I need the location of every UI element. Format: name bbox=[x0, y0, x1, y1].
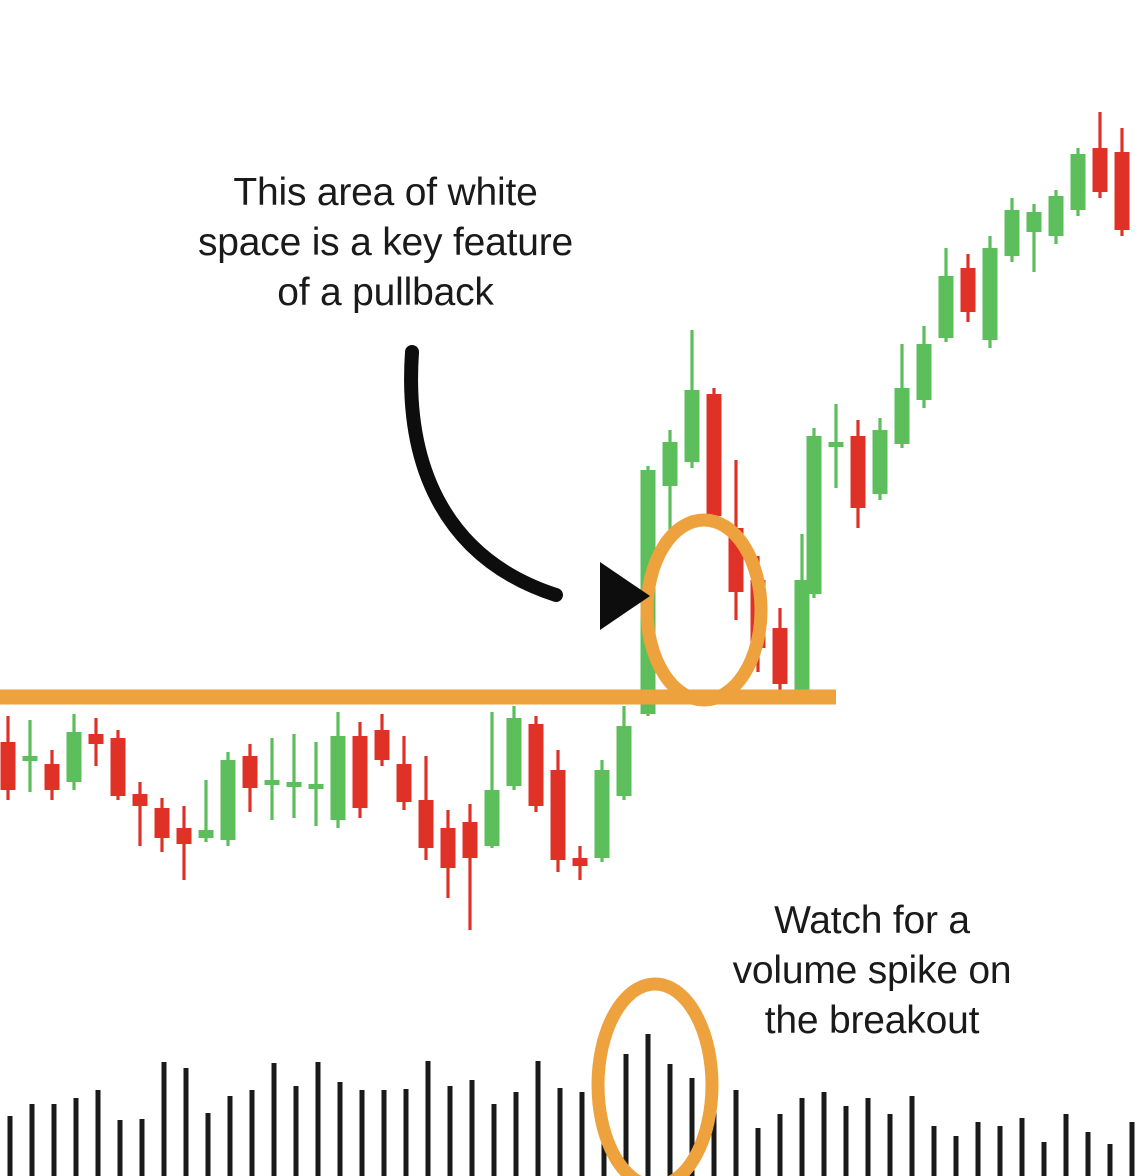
candle-body bbox=[961, 268, 976, 312]
volume-bar bbox=[844, 1106, 849, 1176]
candle-body bbox=[463, 822, 478, 858]
candle-body bbox=[1071, 154, 1086, 210]
candle-body bbox=[287, 782, 302, 787]
candle-body bbox=[551, 770, 566, 860]
candle-body bbox=[773, 628, 788, 684]
volume-bar bbox=[932, 1126, 937, 1176]
candle-body bbox=[707, 394, 722, 516]
volume-bar bbox=[976, 1122, 981, 1176]
candle-body bbox=[795, 580, 810, 692]
candle bbox=[617, 706, 632, 800]
candle-body bbox=[89, 734, 104, 744]
pullback-highlight-ellipse bbox=[647, 520, 761, 700]
candle bbox=[287, 734, 302, 818]
candle-body bbox=[397, 764, 412, 802]
candle bbox=[595, 760, 610, 862]
candle-body bbox=[1027, 212, 1042, 232]
candle-body bbox=[873, 430, 888, 494]
volume-bar bbox=[52, 1104, 57, 1176]
candle bbox=[807, 428, 822, 598]
volume-bar bbox=[228, 1096, 233, 1176]
volume-annotation-text: Watch for a volume spike on the breakout bbox=[672, 896, 1072, 1046]
candle-body bbox=[663, 442, 678, 486]
volume-bar bbox=[118, 1120, 123, 1176]
candle bbox=[1093, 112, 1108, 198]
candle bbox=[1, 716, 16, 800]
volume-bar bbox=[536, 1061, 541, 1176]
candle-body bbox=[1093, 148, 1108, 192]
volume-bar bbox=[316, 1062, 321, 1176]
candle bbox=[983, 236, 998, 348]
volume-bar bbox=[382, 1090, 387, 1176]
candle bbox=[895, 344, 910, 448]
candle-body bbox=[265, 780, 280, 785]
candle bbox=[111, 730, 126, 800]
candle bbox=[353, 722, 368, 818]
candle bbox=[773, 608, 788, 700]
volume-bar bbox=[184, 1068, 189, 1176]
volume-bar bbox=[74, 1098, 79, 1176]
candle bbox=[309, 742, 324, 826]
candle-body bbox=[375, 730, 390, 760]
candle bbox=[961, 254, 976, 322]
candle bbox=[221, 752, 236, 846]
candle bbox=[707, 388, 722, 524]
candle-body bbox=[221, 760, 236, 840]
volume-bar bbox=[8, 1116, 13, 1176]
candle bbox=[441, 810, 456, 898]
volume-bar bbox=[1042, 1142, 1047, 1176]
candle-wick bbox=[270, 738, 273, 820]
candle bbox=[67, 714, 82, 790]
volume-bar bbox=[140, 1119, 145, 1176]
candle-body bbox=[243, 756, 258, 788]
candle-body bbox=[1049, 196, 1064, 236]
candle bbox=[375, 714, 390, 766]
arrow-shaft bbox=[411, 352, 556, 595]
candle-body bbox=[917, 344, 932, 400]
volume-bar bbox=[910, 1096, 915, 1176]
volume-bar bbox=[1130, 1122, 1135, 1176]
candle-body bbox=[939, 276, 954, 338]
candle-body bbox=[851, 436, 866, 508]
volume-bar bbox=[338, 1082, 343, 1176]
candle bbox=[529, 716, 544, 812]
candle-body bbox=[155, 808, 170, 838]
volume-bar bbox=[30, 1104, 35, 1176]
candle-body bbox=[807, 436, 822, 594]
candle bbox=[463, 804, 478, 930]
volume-bar bbox=[998, 1126, 1003, 1176]
volume-bar bbox=[360, 1090, 365, 1176]
candle-body bbox=[573, 858, 588, 866]
volume-bar bbox=[250, 1090, 255, 1176]
candle-body bbox=[529, 724, 544, 806]
candle bbox=[1027, 204, 1042, 272]
volume-bar bbox=[888, 1114, 893, 1176]
candle-body bbox=[67, 732, 82, 782]
volume-bar bbox=[404, 1089, 409, 1176]
volume-bar bbox=[206, 1113, 211, 1176]
candle bbox=[551, 750, 566, 872]
candle-body bbox=[353, 736, 368, 808]
volume-bar bbox=[646, 1034, 651, 1176]
candle-body bbox=[617, 726, 632, 796]
volume-bar bbox=[624, 1054, 629, 1176]
candle-body bbox=[199, 830, 214, 838]
candle bbox=[243, 744, 258, 812]
candle-body bbox=[419, 800, 434, 848]
candle bbox=[133, 782, 148, 846]
candle bbox=[177, 806, 192, 880]
candle-body bbox=[441, 828, 456, 868]
candle bbox=[507, 706, 522, 790]
candle-body bbox=[507, 718, 522, 786]
volume-bar bbox=[470, 1080, 475, 1176]
volume-bar bbox=[866, 1098, 871, 1176]
candle bbox=[419, 756, 434, 860]
chart-canvas: This area of white space is a key featur… bbox=[0, 0, 1146, 1176]
volume-bar bbox=[294, 1086, 299, 1176]
candle bbox=[1071, 148, 1086, 216]
volume-bar bbox=[1108, 1144, 1113, 1176]
volume-bar bbox=[558, 1088, 563, 1176]
candle-body bbox=[685, 390, 700, 462]
candle bbox=[397, 736, 412, 810]
candle-body bbox=[829, 442, 844, 447]
candle bbox=[485, 712, 500, 848]
candle bbox=[23, 720, 38, 792]
candle bbox=[155, 798, 170, 852]
candle bbox=[1049, 190, 1064, 244]
volume-bar bbox=[800, 1098, 805, 1176]
volume-bar bbox=[734, 1090, 739, 1176]
candle bbox=[851, 420, 866, 528]
volume-bar bbox=[954, 1136, 959, 1176]
volume-bar bbox=[162, 1062, 167, 1176]
volume-bars-layer bbox=[8, 1034, 1135, 1176]
volume-bar bbox=[514, 1092, 519, 1176]
candle bbox=[199, 780, 214, 842]
candle bbox=[331, 712, 346, 828]
candle-body bbox=[23, 756, 38, 761]
volume-bar bbox=[1086, 1132, 1091, 1176]
candle-wick bbox=[292, 734, 295, 818]
candle bbox=[1115, 128, 1130, 236]
volume-bar bbox=[426, 1061, 431, 1176]
candle-body bbox=[1005, 210, 1020, 256]
candle-body bbox=[177, 828, 192, 844]
candle-body bbox=[983, 248, 998, 340]
volume-bar bbox=[756, 1128, 761, 1176]
volume-bar bbox=[492, 1104, 497, 1176]
candle-body bbox=[111, 738, 126, 796]
candle-body bbox=[309, 784, 324, 789]
volume-bar bbox=[1020, 1118, 1025, 1176]
candle bbox=[265, 738, 280, 820]
candle bbox=[917, 326, 932, 408]
candle-body bbox=[485, 790, 500, 846]
volume-bar bbox=[668, 1064, 673, 1176]
candle-body bbox=[45, 764, 60, 790]
candle-body bbox=[1, 742, 16, 790]
volume-bar bbox=[96, 1090, 101, 1176]
candle bbox=[685, 330, 700, 468]
candle-body bbox=[1115, 152, 1130, 230]
arrow-layer bbox=[411, 352, 650, 630]
volume-bar bbox=[1064, 1114, 1069, 1176]
candle-body bbox=[133, 794, 148, 806]
volume-bar bbox=[778, 1114, 783, 1176]
candle-body bbox=[595, 770, 610, 858]
volume-bar bbox=[580, 1092, 585, 1176]
candle bbox=[573, 846, 588, 880]
volume-bar bbox=[272, 1063, 277, 1176]
candle bbox=[873, 418, 888, 500]
candle bbox=[939, 248, 954, 342]
candle bbox=[45, 750, 60, 800]
candle bbox=[89, 718, 104, 766]
volume-bar bbox=[448, 1086, 453, 1176]
candle bbox=[1005, 198, 1020, 262]
pullback-annotation-text: This area of white space is a key featur… bbox=[98, 168, 673, 318]
candle bbox=[829, 404, 844, 488]
candle-body bbox=[895, 388, 910, 444]
volume-bar bbox=[822, 1092, 827, 1176]
candle-body bbox=[331, 736, 346, 820]
candle-wick bbox=[138, 782, 141, 846]
